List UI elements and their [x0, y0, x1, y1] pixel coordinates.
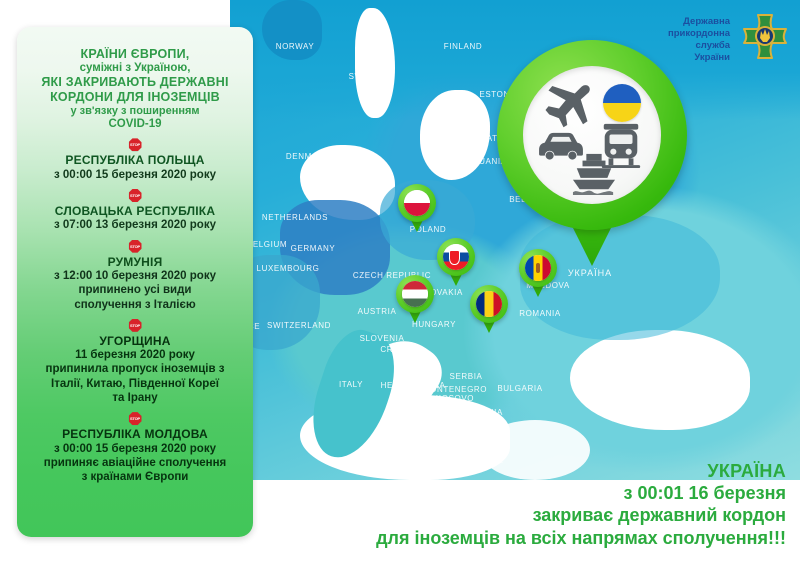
map-label-slovenia: SLOVENIA — [360, 334, 405, 343]
stop-sign-label: STOP — [130, 323, 140, 328]
map-pin-romania[interactable] — [470, 285, 508, 333]
flag-hu-icon — [402, 281, 428, 307]
map-label-germany: GERMANY — [291, 244, 336, 253]
stop-sign-label: STOP — [130, 244, 140, 249]
ukraine-message-line-1: УКРАЇНА — [376, 460, 786, 482]
stop-sign-label: STOP — [130, 193, 140, 198]
emblem-line-2: прикордонна — [668, 28, 730, 40]
country-entry-республіка-польща: STOPРЕСПУБЛІКА ПОЛЬЩАз 00:00 15 березня … — [25, 138, 245, 182]
map-label-kosovo: KOSOVO — [436, 394, 474, 403]
country-entries-list: STOPРЕСПУБЛІКА ПОЛЬЩАз 00:00 15 березня … — [25, 138, 245, 484]
panel-title-line-5: у зв'язку з поширенням — [25, 105, 245, 118]
emblem-line-1: Державна — [668, 16, 730, 28]
panel-title-line-3: ЯКІ ЗАКРИВАЮТЬ ДЕРЖАВНІ — [25, 75, 245, 90]
border-guard-service-emblem-block: Державна прикордонна служба України — [668, 12, 792, 68]
country-entry-detail: з 00:00 15 березня 2020 року — [25, 442, 245, 456]
map-pin-moldova[interactable] — [519, 249, 557, 297]
map-label-macedonia: MACEDONIA — [449, 408, 503, 417]
map-label-netherlands: NETHERLANDS — [262, 213, 328, 222]
map-label-croatia: CROATIA — [380, 345, 419, 354]
country-entry-detail: Італії, Китаю, Південної Кореї — [25, 377, 245, 391]
map-label-sweden: SWEDEN — [349, 72, 388, 81]
country-entry-республіка-молдова: STOPРЕСПУБЛІКА МОЛДОВАз 00:00 15 березня… — [25, 412, 245, 484]
airplane-icon — [539, 80, 591, 128]
map-pin-hungary[interactable] — [396, 275, 434, 323]
transport-modes-map-pin[interactable] — [497, 40, 687, 240]
map-label-montenegro: MONTENEGRO — [423, 385, 487, 394]
stop-sign-label: STOP — [130, 142, 140, 147]
country-entry-detail: припиняє авіаційне сполучення — [25, 456, 245, 470]
country-entry-угорщина: STOPУГОРЩИНА11 березня 2020 рокуприпинил… — [25, 319, 245, 405]
panel-title-line-1: КРАЇНИ ЄВРОПИ, — [25, 47, 245, 62]
map-label-italy: ITALY — [339, 380, 363, 389]
country-entry-name: УГОРЩИНА — [25, 334, 245, 348]
map-label-bulgaria: BULGARIA — [497, 384, 542, 393]
infographic-canvas: NORWAYSWEDENFINLANDDENMARKESTONIALATVIAL… — [0, 0, 800, 565]
country-entry-detail: з країнами Європи — [25, 470, 245, 484]
panel-title-line-4: КОРДОНИ ДЛЯ ІНОЗЕМЦІВ — [25, 90, 245, 105]
stop-sign-label: STOP — [130, 416, 140, 421]
emblem-line-4: України — [668, 52, 730, 64]
country-entry-name: СЛОВАЦЬКА РЕСПУБЛІКА — [25, 204, 245, 218]
country-entry-name: РУМУНІЯ — [25, 255, 245, 269]
country-entry-detail: з 00:00 15 березня 2020 року — [25, 168, 245, 182]
country-entry-name: РЕСПУБЛІКА ПОЛЬЩА — [25, 153, 245, 167]
stop-sign-icon: STOP — [129, 189, 142, 202]
map-pin-poland[interactable] — [398, 184, 436, 232]
ukraine-message-line-3: закриває державний кордон — [376, 504, 786, 526]
emblem-caption: Державна прикордонна служба України — [668, 16, 730, 65]
country-entry-detail: з 12:00 10 березня 2020 року — [25, 269, 245, 283]
ukraine-message-line-2: з 00:01 16 березня — [376, 482, 786, 504]
map-label-austria: AUSTRIA — [358, 307, 397, 316]
map-label-romania: ROMANIA — [519, 309, 561, 318]
flag-md-icon — [525, 255, 551, 281]
map-label-norway: NORWAY — [276, 42, 315, 51]
countries-closing-borders-panel: КРАЇНИ ЄВРОПИ, суміжні з Україною, ЯКІ З… — [17, 27, 253, 537]
ukraine-message-line-4: для іноземців на всіх напрямах сполученн… — [376, 527, 786, 549]
country-entry-detail: та Ірану — [25, 391, 245, 405]
panel-title: КРАЇНИ ЄВРОПИ, суміжні з Україною, ЯКІ З… — [25, 47, 245, 131]
ukraine-border-closure-message: УКРАЇНА з 00:01 16 березня закриває держ… — [376, 460, 786, 549]
map-label-finland: FINLAND — [444, 42, 482, 51]
stop-sign-icon: STOP — [129, 412, 142, 425]
map-label-serbia: SERBIA — [450, 372, 483, 381]
ukraine-flag-circle-icon — [603, 84, 641, 122]
map-label-switzerland: SWITZERLAND — [267, 321, 331, 330]
stop-sign-icon: STOP — [129, 319, 142, 332]
flag-sk-icon — [443, 244, 469, 270]
country-entry-detail: з 07:00 13 березня 2020 року — [25, 218, 245, 232]
panel-title-line-2: суміжні з Україною, — [25, 62, 245, 76]
map-label-denmark: DENMARK — [286, 152, 330, 161]
map-shape-norway-coast — [262, 0, 322, 60]
country-entry-detail: 11 березня 2020 року — [25, 348, 245, 362]
border-guard-cross-icon — [738, 12, 792, 68]
map-label-albania: ALBANIA — [443, 424, 481, 433]
map-pin-slovakia[interactable] — [437, 238, 475, 286]
country-entry-словацька-республіка: STOPСЛОВАЦЬКА РЕСПУБЛІКАз 07:00 13 берез… — [25, 189, 245, 233]
country-entry-detail: припинено усі види — [25, 283, 245, 297]
panel-title-line-6: COVID-19 — [25, 118, 245, 132]
stop-sign-icon: STOP — [129, 138, 142, 151]
country-entry-name: РЕСПУБЛІКА МОЛДОВА — [25, 427, 245, 441]
flag-pl-icon — [404, 190, 430, 216]
flag-ro-icon — [476, 291, 502, 317]
country-entry-detail: сполучення з Італією — [25, 298, 245, 312]
map-label-ukraine: УКРАЇНА — [568, 268, 612, 278]
emblem-line-3: служба — [668, 40, 730, 52]
country-entry-румунія: STOPРУМУНІЯз 12:00 10 березня 2020 рокуп… — [25, 240, 245, 312]
ship-icon — [571, 152, 617, 196]
country-entry-detail: припинила пропуск іноземців з — [25, 362, 245, 376]
map-label-luxembourg: LUXEMBOURG — [257, 264, 320, 273]
stop-sign-icon: STOP — [129, 240, 142, 253]
pin-inner-circle — [523, 66, 661, 204]
